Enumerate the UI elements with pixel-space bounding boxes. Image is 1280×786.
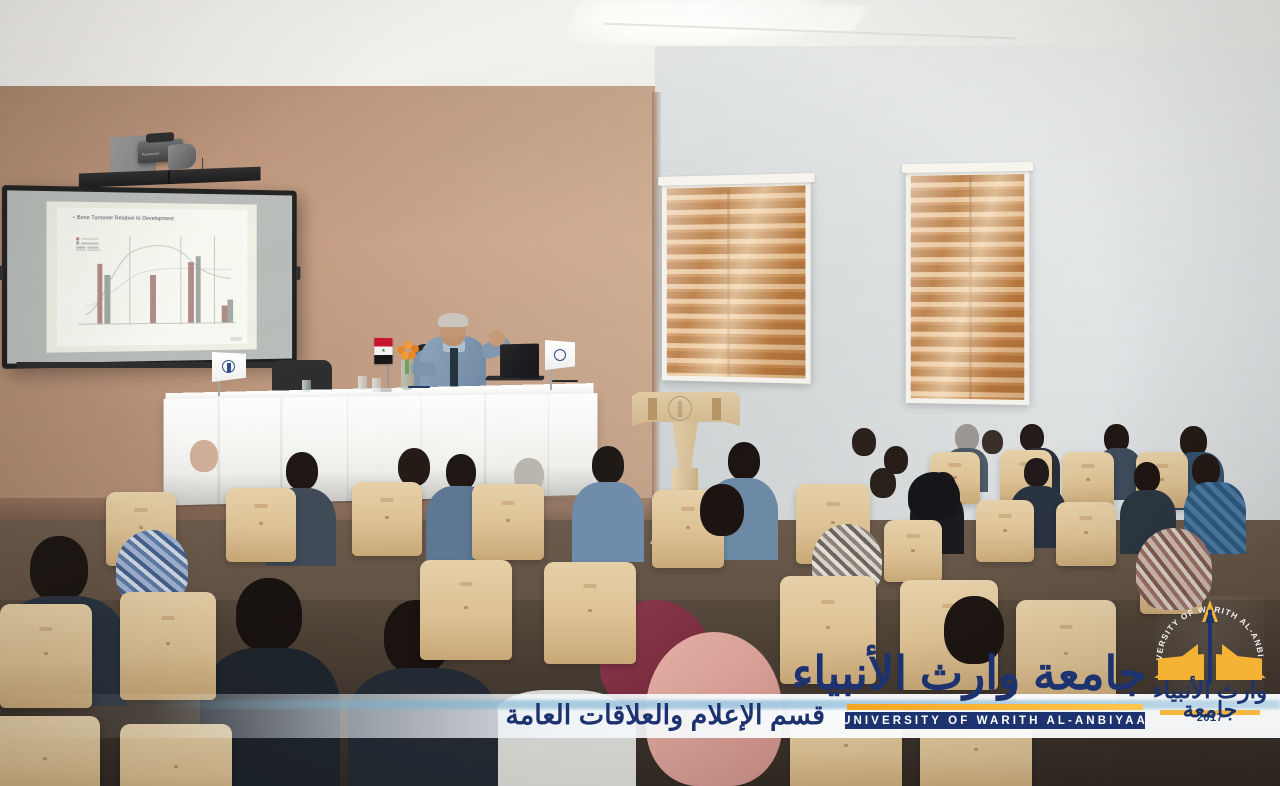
iraq-flag: ★	[374, 338, 392, 364]
pen-1	[408, 386, 430, 388]
whiteboard-pen-tray	[16, 362, 296, 368]
banner-department-arabic: قسم الإعلام والعلاقات العامة	[505, 700, 825, 731]
head-back-6	[852, 428, 876, 456]
iraq-flag-star-icon: ★	[381, 348, 385, 354]
head-center-5	[286, 452, 318, 490]
seat-f-4	[544, 562, 636, 664]
seat-f-3	[420, 560, 512, 660]
wordmark-gold-rule	[847, 704, 1143, 710]
iraq-flag-stand	[380, 388, 392, 392]
pen-2	[552, 380, 578, 382]
university-wordmark: جامعة وارث الأنبياء UNIVERSITY OF WARITH…	[827, 652, 1147, 742]
head-mid-r5	[870, 468, 896, 498]
body-center-2	[572, 482, 644, 562]
seat-f-2	[120, 592, 216, 700]
interactive-whiteboard[interactable]: Bone Turnover Relative to Development	[2, 185, 297, 369]
presenter-hair	[438, 313, 468, 327]
seat-r1-3	[1062, 452, 1114, 508]
wordmark-english-bar: UNIVERSITY OF WARITH AL-ANBIYAA	[845, 712, 1145, 729]
whiteboard-side-knob-left	[0, 266, 3, 280]
head-front-2	[236, 578, 302, 652]
whiteboard-side-knob-right	[296, 266, 301, 280]
hijab-black-1	[908, 472, 960, 520]
head-back-3	[1020, 424, 1044, 451]
water-glass-2	[372, 378, 381, 392]
slide-footer-logo	[230, 337, 241, 341]
window-right	[906, 169, 1030, 405]
orange-flowers	[395, 340, 421, 362]
window-right-header	[902, 162, 1034, 173]
seal-founding-year: 2017	[1197, 712, 1223, 724]
projected-slide-area: Bone Turnover Relative to Development	[46, 201, 257, 352]
seat-f-1	[0, 604, 92, 708]
seat-r2-4	[884, 520, 942, 582]
legend-swatch-resorption	[77, 238, 80, 241]
window-left	[662, 180, 811, 384]
seat-r2-1	[976, 500, 1034, 562]
window-right-blind[interactable]	[911, 174, 1025, 400]
seat-m-2	[472, 484, 544, 560]
university-flag-emblem-left	[222, 360, 235, 373]
head-center-1	[728, 442, 760, 480]
water-glass-1	[358, 376, 367, 390]
university-name-arabic: جامعة وارث الأنبياء	[792, 650, 1147, 696]
water-glass-3	[302, 380, 311, 392]
university-flag-right	[545, 340, 575, 370]
university-seal: UNIVERSITY OF WARITH AL-ANBIYAA وارث الأ…	[1146, 592, 1274, 744]
head-center-4	[398, 448, 430, 486]
seat-m-5	[226, 488, 296, 562]
seat-r2-2	[1056, 502, 1116, 566]
podium-inlay-right	[712, 398, 721, 420]
podium-emblem	[668, 396, 692, 421]
university-name-english: UNIVERSITY OF WARITH AL-ANBIYAA	[842, 715, 1148, 727]
slide-canvas: Bone Turnover Relative to Development	[57, 208, 247, 347]
seal-center-shaft	[1208, 610, 1212, 684]
head-center-6	[190, 440, 218, 472]
university-flag-left	[212, 352, 246, 382]
head-mid-r2	[1134, 462, 1160, 492]
speaker-bar-seam	[168, 170, 170, 184]
head-grey-hair-1	[955, 424, 979, 451]
head-center-3	[446, 454, 476, 490]
university-flag-emblem-right	[554, 349, 566, 361]
presenter-necktie	[450, 348, 458, 388]
slide-chart	[75, 235, 240, 337]
slide-title: Bone Turnover Relative to Development	[73, 215, 243, 223]
head-back-2	[982, 430, 1003, 454]
window-left-blind[interactable]	[667, 185, 806, 378]
wall-corner-edge	[652, 92, 661, 522]
lecture-hall-photo: Panasonic Bone Turnover Relative to Deve…	[0, 0, 1280, 786]
head-front-1	[30, 536, 88, 602]
head-center-2	[592, 446, 624, 484]
head-mid-r1	[1024, 458, 1049, 487]
legend-swatch-formation	[77, 242, 80, 245]
whiteboard-surface: Bone Turnover Relative to Development	[7, 190, 292, 363]
podium-inlay-left	[648, 398, 657, 420]
seat-m-1	[352, 482, 422, 556]
laptop-screen[interactable]	[500, 344, 539, 379]
head-front-3	[700, 484, 744, 536]
